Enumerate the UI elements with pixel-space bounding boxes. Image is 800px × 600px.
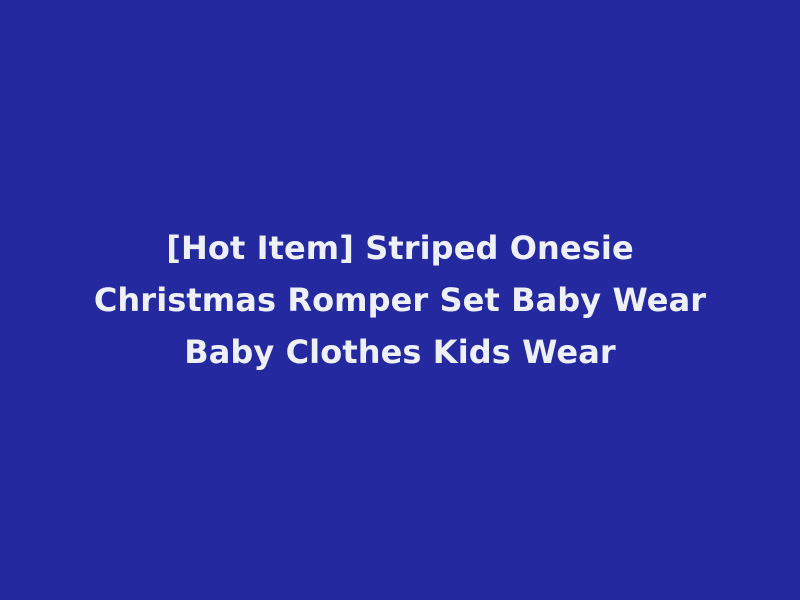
product-placeholder-card: [Hot Item] Striped Onesie Christmas Romp… xyxy=(0,0,800,600)
product-title: [Hot Item] Striped Onesie Christmas Romp… xyxy=(30,222,770,378)
